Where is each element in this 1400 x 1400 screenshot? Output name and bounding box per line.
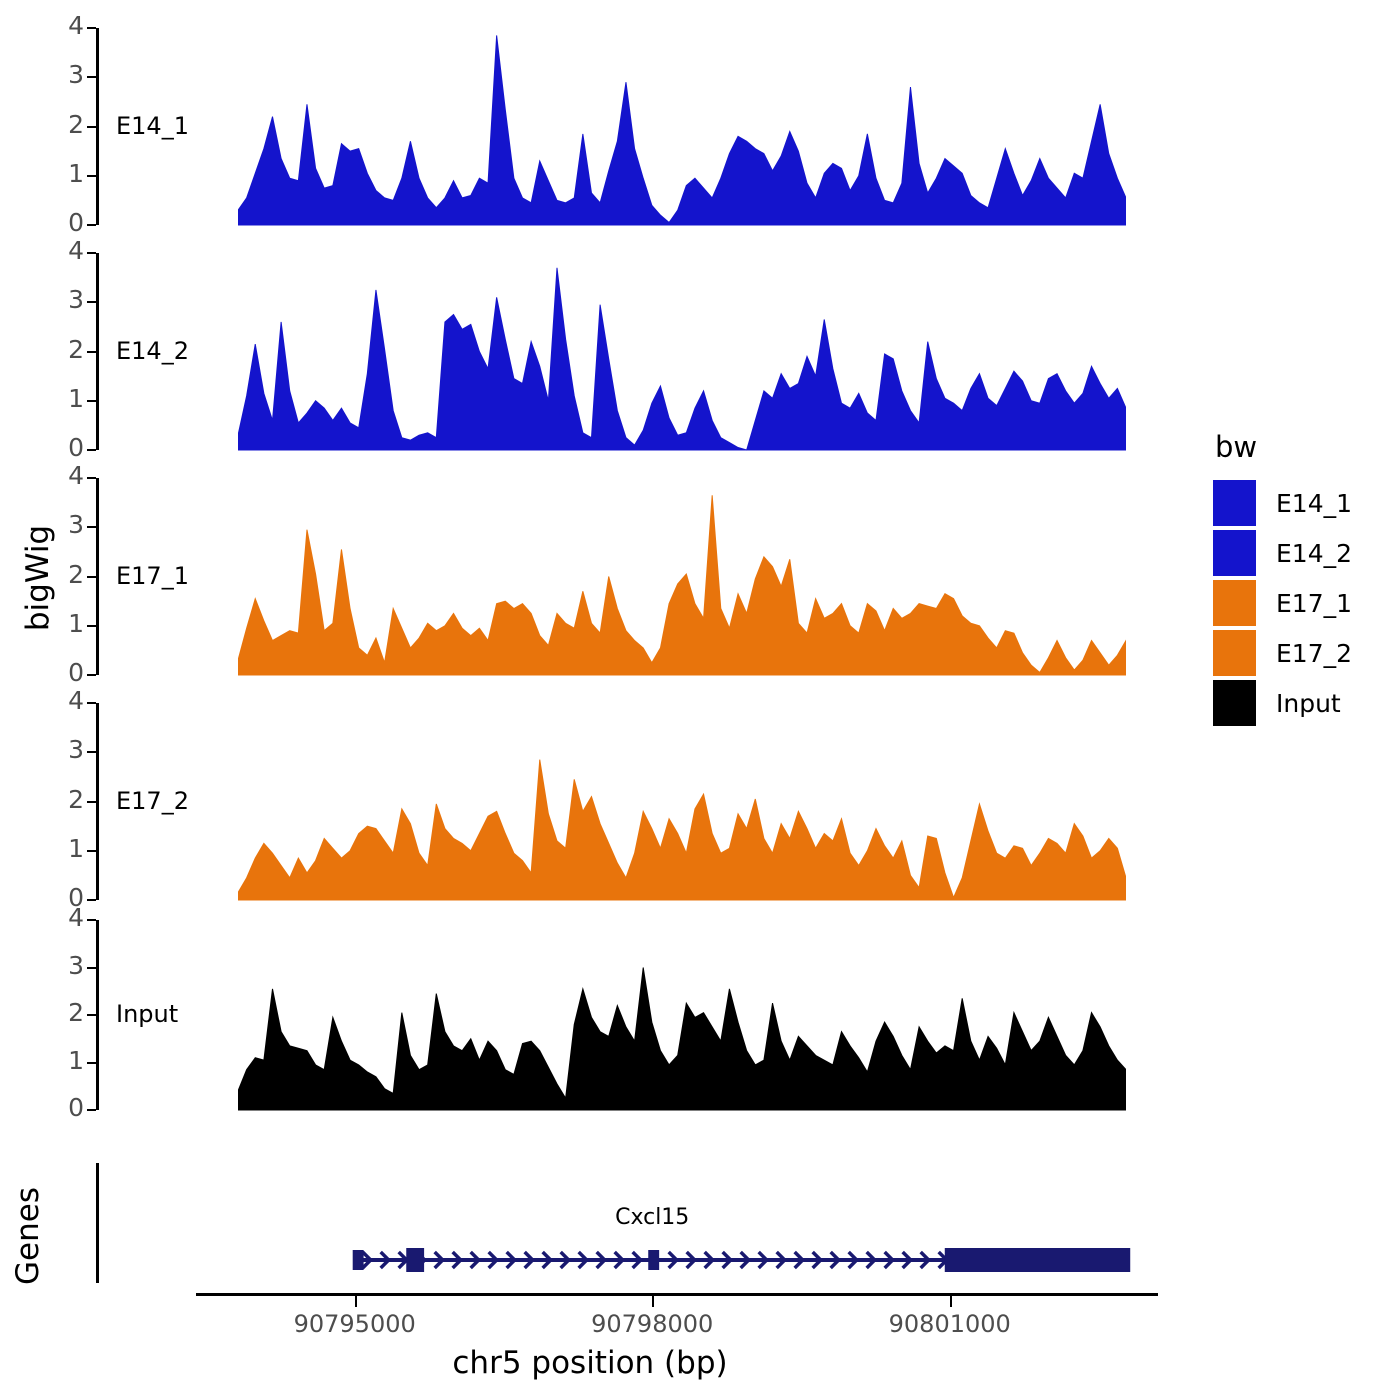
y-tick — [87, 477, 96, 479]
track-e17_2: 01234E17_2 — [96, 703, 1146, 910]
y-tick — [87, 674, 96, 676]
x-tick — [652, 1296, 654, 1307]
y-tick-label: 0 — [52, 433, 84, 462]
track-label: E17_2 — [116, 787, 189, 815]
y-tick — [87, 1062, 96, 1064]
y-tick-label: 3 — [52, 510, 84, 539]
y-tick — [87, 899, 96, 901]
y-tick — [87, 126, 96, 128]
x-axis-line — [196, 1293, 1158, 1296]
track-label: E14_2 — [116, 337, 189, 365]
y-tick-label: 3 — [52, 951, 84, 980]
y-tick — [87, 850, 96, 852]
x-tick-label: 90801000 — [889, 1310, 1011, 1338]
y-tick — [87, 301, 96, 303]
y-tick — [87, 76, 96, 78]
track-e14_1: 01234E14_1 — [96, 28, 1146, 235]
legend-label: Input — [1276, 689, 1341, 718]
signal-area — [238, 703, 1126, 902]
y-tick — [87, 1014, 96, 1016]
track-label: E14_1 — [116, 112, 189, 140]
y-axis-line — [96, 703, 99, 900]
signal-area — [238, 478, 1126, 677]
track-label: Input — [116, 1000, 178, 1028]
legend-swatch — [1213, 480, 1256, 526]
legend-item-e14_1[interactable]: E14_1 — [1213, 478, 1393, 528]
signal-area — [238, 253, 1126, 452]
y-tick-label: 1 — [52, 159, 84, 188]
signal-area — [238, 28, 1126, 227]
y-tick — [87, 1109, 96, 1111]
y-tick — [87, 351, 96, 353]
legend-items: E14_1E14_2E17_1E17_2Input — [1213, 478, 1393, 728]
track-input: 01234Input — [96, 920, 1146, 1120]
y-tick — [87, 175, 96, 177]
track-e17_1: 01234E17_1 — [96, 478, 1146, 685]
y-tick-label: 3 — [52, 285, 84, 314]
x-tick-label: 90795000 — [294, 1310, 416, 1338]
y-tick-label: 0 — [52, 1093, 84, 1122]
legend-swatch — [1213, 580, 1256, 626]
gene-name-label: Cxcl15 — [615, 1205, 689, 1230]
track-e14_2: 01234E14_2 — [96, 253, 1146, 460]
y-tick-label: 3 — [52, 735, 84, 764]
y-tick-label: 0 — [52, 208, 84, 237]
y-tick — [87, 576, 96, 578]
legend-label: E17_2 — [1276, 639, 1352, 668]
y-tick — [87, 449, 96, 451]
legend-label: E17_1 — [1276, 589, 1352, 618]
y-tick-label: 3 — [52, 60, 84, 89]
legend-item-input[interactable]: Input — [1213, 678, 1393, 728]
legend-label: E14_2 — [1276, 539, 1352, 568]
y-tick-label: 4 — [52, 236, 84, 265]
y-tick-label: 1 — [52, 384, 84, 413]
legend: bw E14_1E14_2E17_1E17_2Input — [1213, 430, 1393, 728]
y-tick — [87, 400, 96, 402]
y-tick-label: 2 — [52, 560, 84, 589]
y-axis-line — [96, 253, 99, 450]
y-tick-label: 0 — [52, 658, 84, 687]
y-tick — [87, 801, 96, 803]
y-tick-label: 4 — [52, 686, 84, 715]
x-tick — [355, 1296, 357, 1307]
legend-swatch — [1213, 680, 1256, 726]
legend-item-e17_2[interactable]: E17_2 — [1213, 628, 1393, 678]
y-tick — [87, 967, 96, 969]
y-tick-label: 2 — [52, 335, 84, 364]
legend-label: E14_1 — [1276, 489, 1352, 518]
y-tick — [87, 252, 96, 254]
y-tick — [87, 224, 96, 226]
y-tick-label: 2 — [52, 785, 84, 814]
y-axis-title: bigWig — [20, 478, 56, 678]
gene-model[interactable] — [0, 1230, 1400, 1290]
signal-area — [238, 920, 1126, 1112]
x-axis-title: chr5 position (bp) — [0, 1345, 1180, 1381]
legend-item-e17_1[interactable]: E17_1 — [1213, 578, 1393, 628]
y-tick-label: 4 — [52, 903, 84, 932]
legend-item-e14_2[interactable]: E14_2 — [1213, 528, 1393, 578]
y-tick — [87, 919, 96, 921]
y-tick-label: 4 — [52, 461, 84, 490]
x-tick-label: 90798000 — [591, 1310, 713, 1338]
y-tick-label: 4 — [52, 11, 84, 40]
track-label: E17_1 — [116, 562, 189, 590]
y-tick-label: 1 — [52, 834, 84, 863]
y-tick — [87, 702, 96, 704]
legend-title: bw — [1215, 430, 1393, 464]
y-axis-line — [96, 28, 99, 225]
y-tick-label: 1 — [52, 609, 84, 638]
y-tick-label: 2 — [52, 998, 84, 1027]
legend-swatch — [1213, 630, 1256, 676]
y-tick-label: 2 — [52, 110, 84, 139]
y-tick — [87, 27, 96, 29]
y-tick — [87, 751, 96, 753]
y-tick — [87, 526, 96, 528]
y-tick — [87, 625, 96, 627]
y-axis-line — [96, 478, 99, 675]
legend-swatch — [1213, 530, 1256, 576]
y-axis-line — [96, 920, 99, 1110]
y-tick-label: 1 — [52, 1046, 84, 1075]
x-tick — [950, 1296, 952, 1307]
